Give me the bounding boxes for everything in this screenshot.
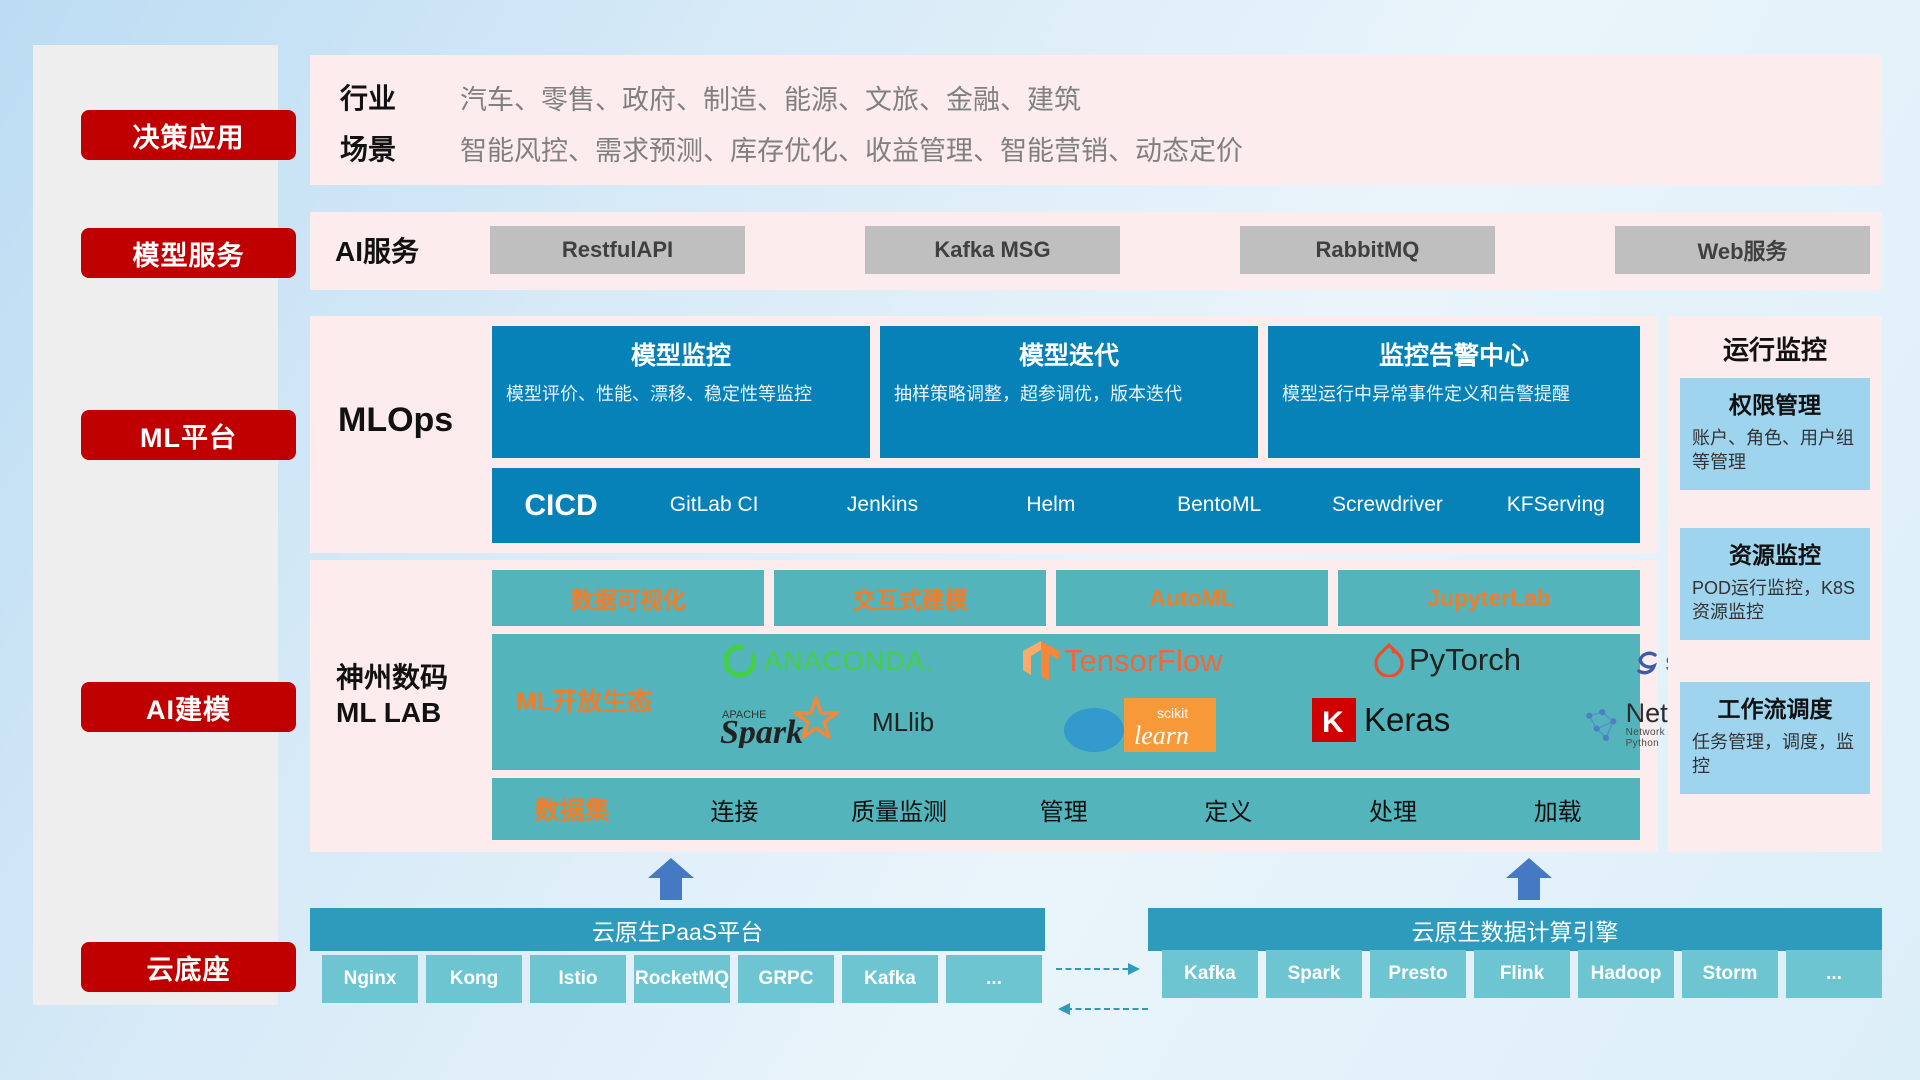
- svg-text:K: K: [1322, 706, 1344, 739]
- rail-item-cloud-base[interactable]: 云底座: [81, 942, 296, 992]
- card-title: 工作流调度: [1692, 690, 1858, 724]
- mlops-label: MLOps: [338, 401, 453, 440]
- networkx-icon: [1582, 705, 1621, 745]
- card-title: 模型监控: [506, 336, 856, 372]
- scenario-value: 智能风控、需求预测、库存优化、收益管理、智能营销、动态定价: [460, 129, 1243, 168]
- tensorflow-logo: TensorFlow: [1022, 640, 1223, 682]
- card-desc: 模型评价、性能、漂移、稳定性等监控: [506, 382, 856, 406]
- keras-logo: K Keras: [1312, 698, 1450, 742]
- service-rabbitmq[interactable]: RabbitMQ: [1240, 226, 1495, 274]
- mlops-card-alert-center[interactable]: 监控告警中心 模型运行中异常事件定义和告警提醒: [1268, 326, 1640, 458]
- service-web[interactable]: Web服务: [1615, 226, 1870, 274]
- sidebar-card-resource[interactable]: 资源监控 POD运行监控，K8S资源监控: [1680, 528, 1870, 640]
- arrow-up-left-icon: [648, 858, 694, 900]
- scikit-learn-logo: scikit learn: [1062, 696, 1232, 752]
- chip-kafka-left[interactable]: Kafka: [842, 955, 938, 1003]
- card-title: 模型迭代: [894, 336, 1244, 372]
- industry-scenario-band: 行业 汽车、零售、政府、制造、能源、文旅、金融、建筑 场景 智能风控、需求预测、…: [310, 55, 1882, 185]
- anaconda-logo: ANACONDA.: [724, 644, 934, 678]
- mllib-text: MLlib: [872, 707, 934, 738]
- chip-istio[interactable]: Istio: [530, 955, 626, 1003]
- tool-automl[interactable]: AutoML: [1056, 570, 1328, 626]
- arrow-right-icon: [1128, 961, 1142, 977]
- dataset-item-process[interactable]: 处理: [1311, 792, 1476, 827]
- chip-nginx[interactable]: Nginx: [322, 955, 418, 1003]
- chip-kafka-right[interactable]: Kafka: [1162, 950, 1258, 998]
- cicd-row: CICD GitLab CI Jenkins Helm BentoML Scre…: [492, 468, 1640, 543]
- card-title: 资源监控: [1692, 536, 1858, 570]
- rail-item-model-service[interactable]: 模型服务: [81, 228, 296, 278]
- service-restfulapi[interactable]: RestfulAPI: [490, 226, 745, 274]
- svg-text:learn: learn: [1134, 721, 1189, 750]
- diagram-canvas: 决策应用 模型服务 ML平台 AI建模 云底座 行业 汽车、零售、政府、制造、能…: [0, 0, 1920, 1080]
- arrow-up-right-icon: [1506, 858, 1552, 900]
- tool-data-visualization[interactable]: 数据可视化: [492, 570, 764, 626]
- chip-grpc[interactable]: GRPC: [738, 955, 834, 1003]
- mlops-card-model-iteration[interactable]: 模型迭代 抽样策略调整，超参调优，版本迭代: [880, 326, 1258, 458]
- dataset-item-connect[interactable]: 连接: [652, 792, 817, 827]
- sidebar-card-permission[interactable]: 权限管理 账户、角色、用户组等管理: [1680, 378, 1870, 490]
- service-kafka-msg[interactable]: Kafka MSG: [865, 226, 1120, 274]
- card-desc: POD运行监控，K8S资源监控: [1692, 576, 1858, 625]
- dashed-connector-bottom: [1066, 1008, 1148, 1010]
- dashed-connector-top: [1056, 968, 1138, 970]
- dataset-item-load[interactable]: 加载: [1475, 792, 1640, 827]
- svg-text:scikit: scikit: [1157, 705, 1188, 721]
- rail-item-ai-modeling[interactable]: AI建模: [81, 682, 296, 732]
- card-desc: 模型运行中异常事件定义和告警提醒: [1282, 382, 1626, 406]
- card-desc: 抽样策略调整，超参调优，版本迭代: [894, 382, 1244, 406]
- rail-item-ml-platform[interactable]: ML平台: [81, 410, 296, 460]
- pytorch-icon: [1374, 643, 1404, 677]
- chip-more-right[interactable]: ...: [1786, 950, 1882, 998]
- tensorflow-text: TensorFlow: [1064, 643, 1223, 679]
- mlops-card-model-monitoring[interactable]: 模型监控 模型评价、性能、漂移、稳定性等监控: [492, 326, 870, 458]
- cloud-native-data-engine-bar[interactable]: 云原生数据计算引擎: [1148, 908, 1882, 951]
- spark-mllib-logo: APACHE Spark MLlib: [720, 696, 934, 748]
- keras-text: Keras: [1364, 701, 1450, 739]
- rail-item-decision-app[interactable]: 决策应用: [81, 110, 296, 160]
- ml-lab-label-en: ML LAB: [336, 695, 448, 730]
- sidebar-card-workflow[interactable]: 工作流调度 任务管理，调度，监控: [1680, 682, 1870, 794]
- runtime-monitoring-sidebar: 运行监控 权限管理 账户、角色、用户组等管理 资源监控 POD运行监控，K8S资…: [1668, 316, 1882, 852]
- keras-icon: K: [1312, 698, 1356, 742]
- ml-open-ecosystem-label: ML开放生态: [516, 682, 652, 718]
- ml-lab-label-cn: 神州数码: [336, 660, 448, 695]
- chip-kong[interactable]: Kong: [426, 955, 522, 1003]
- scikit-learn-icon: scikit learn: [1062, 696, 1232, 752]
- anaconda-icon: [724, 644, 758, 678]
- anaconda-text: ANACONDA.: [764, 646, 934, 677]
- left-rail: 决策应用 模型服务 ML平台 AI建模 云底座: [33, 45, 278, 1005]
- dataset-label: 数据集: [492, 791, 652, 827]
- cicd-item-screwdriver[interactable]: Screwdriver: [1303, 494, 1471, 516]
- pytorch-logo: PyTorch: [1374, 642, 1521, 678]
- cicd-label: CICD: [492, 489, 630, 523]
- card-desc: 任务管理，调度，监控: [1692, 730, 1858, 779]
- scenario-label: 场景: [340, 128, 460, 168]
- ml-lab-band: 神州数码 ML LAB 数据可视化 交互式建模 AutoML JupyterLa…: [310, 560, 1658, 852]
- chip-presto[interactable]: Presto: [1370, 950, 1466, 998]
- tool-interactive-modeling[interactable]: 交互式建模: [774, 570, 1046, 626]
- dataset-item-define[interactable]: 定义: [1146, 792, 1311, 827]
- tool-jupyterlab[interactable]: JupyterLab: [1338, 570, 1640, 626]
- cloud-native-paas-bar[interactable]: 云原生PaaS平台: [310, 908, 1045, 951]
- arrow-left-icon: [1056, 1001, 1070, 1017]
- chip-more-left[interactable]: ...: [946, 955, 1042, 1003]
- cicd-item-kfserving[interactable]: KFServing: [1472, 494, 1640, 516]
- dataset-item-manage[interactable]: 管理: [981, 792, 1146, 827]
- chip-rocketmq[interactable]: RocketMQ: [634, 955, 730, 1003]
- card-desc: 账户、角色、用户组等管理: [1692, 426, 1858, 475]
- chip-spark[interactable]: Spark: [1266, 950, 1362, 998]
- card-title: 监控告警中心: [1282, 336, 1626, 372]
- cicd-item-jenkins[interactable]: Jenkins: [798, 494, 966, 516]
- chip-storm[interactable]: Storm: [1682, 950, 1778, 998]
- pytorch-text: PyTorch: [1409, 642, 1521, 678]
- cicd-item-bentoml[interactable]: BentoML: [1135, 494, 1303, 516]
- svg-text:Spark: Spark: [720, 714, 803, 748]
- ml-lab-label: 神州数码 ML LAB: [336, 660, 448, 730]
- dataset-item-quality-monitoring[interactable]: 质量监测: [817, 792, 982, 827]
- sas-icon: [1632, 648, 1662, 678]
- ai-service-label: AI服务: [335, 230, 419, 270]
- industry-value: 汽车、零售、政府、制造、能源、文旅、金融、建筑: [460, 78, 1081, 117]
- tensorflow-icon: [1022, 640, 1060, 682]
- runtime-monitoring-title: 运行监控: [1668, 330, 1882, 367]
- spark-icon: APACHE Spark: [720, 696, 870, 748]
- ml-open-ecosystem-panel: ML开放生态 ANACONDA. TensorFlow: [492, 634, 1640, 770]
- card-title: 权限管理: [1692, 386, 1858, 420]
- dataset-row: 数据集 连接 质量监测 管理 定义 处理 加载: [492, 778, 1640, 840]
- chip-hadoop[interactable]: Hadoop: [1578, 950, 1674, 998]
- industry-label: 行业: [340, 77, 460, 117]
- chip-flink[interactable]: Flink: [1474, 950, 1570, 998]
- cicd-item-gitlab[interactable]: GitLab CI: [630, 494, 798, 516]
- ai-service-band: AI服务 RestfulAPI Kafka MSG RabbitMQ Web服务: [310, 212, 1882, 290]
- industry-row: 行业 汽车、零售、政府、制造、能源、文旅、金融、建筑: [340, 77, 1081, 117]
- scenario-row: 场景 智能风控、需求预测、库存优化、收益管理、智能营销、动态定价: [340, 128, 1243, 168]
- cicd-item-helm[interactable]: Helm: [967, 494, 1135, 516]
- mlops-band: MLOps 模型监控 模型评价、性能、漂移、稳定性等监控 模型迭代 抽样策略调整…: [310, 316, 1658, 553]
